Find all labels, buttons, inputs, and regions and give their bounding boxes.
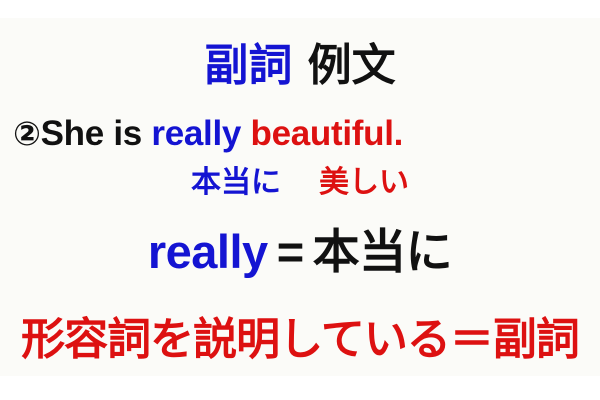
equation-japanese-term: 本当に [313, 225, 453, 280]
gloss-adjective-japanese: 美しい [319, 165, 409, 200]
conclusion-line: 形容詞を説明している＝副詞 [0, 318, 600, 362]
slide-canvas: 副詞 例文 ②She is really beautiful. 本当に美しい r… [0, 18, 600, 376]
japanese-gloss-line: 本当に美しい [0, 168, 600, 198]
sentence-subject-verb: She is [41, 114, 152, 153]
equation-english-term: really [148, 225, 268, 278]
example-sentence-line: ②She is really beautiful. [0, 116, 600, 151]
gloss-adverb-japanese: 本当に [191, 165, 281, 200]
equation-line: really=本当に [0, 228, 600, 276]
title-example-sentences: 例文 [308, 40, 396, 91]
item-number-marker: ② [13, 114, 41, 153]
slide-root: 副詞 例文 ②She is really beautiful. 本当に美しい r… [0, 0, 600, 400]
title-spacer [292, 40, 307, 91]
equals-sign: = [277, 225, 304, 278]
sentence-adjective: beautiful. [250, 114, 403, 153]
slide-title: 副詞 例文 [0, 44, 600, 88]
title-topic-adverb: 副詞 [204, 40, 292, 91]
sentence-adverb: really [151, 114, 241, 153]
conclusion-text: 形容詞を説明している＝副詞 [21, 314, 579, 365]
